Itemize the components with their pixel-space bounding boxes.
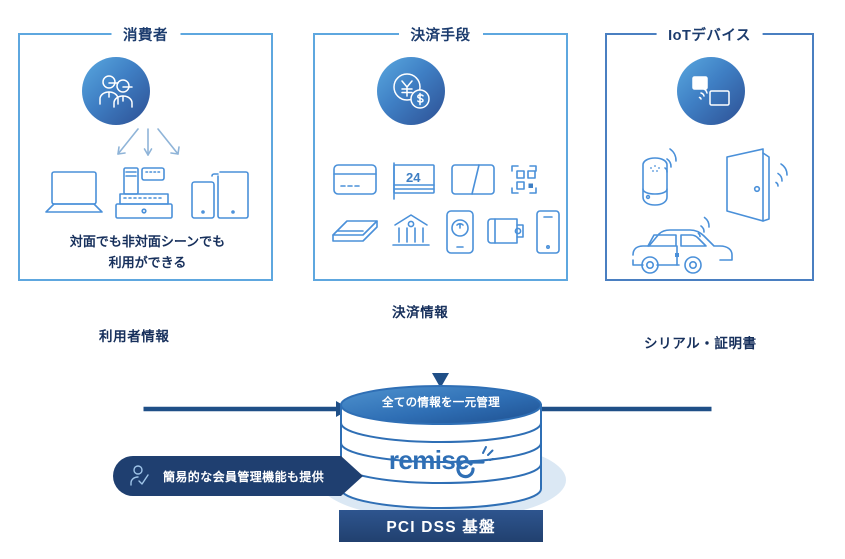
yen-dollar-coins-icon (377, 57, 445, 125)
panel-consumer-caption: 対面でも非対面シーンでも 利用ができる (20, 231, 275, 274)
smartphone-tablet-icon (192, 172, 248, 218)
flow-label-payment: 決済情報 (392, 301, 448, 321)
panel-payment: 決済手段 24 (313, 33, 568, 281)
payment-icons-row-2 (329, 209, 557, 255)
wireless-devices-icon (677, 57, 745, 125)
pci-dss-foundation: PCI DSS 基盤 (339, 510, 543, 542)
mobile-phone-icon (537, 211, 559, 253)
credit-card-icon (334, 165, 376, 194)
iot-device-icons (621, 145, 807, 275)
central-database: 全ての情報を一元管理 remise (339, 385, 543, 510)
arrow-payment-to-db (432, 281, 449, 388)
cash-bills-icon (333, 221, 377, 241)
cash-register-icon (116, 168, 172, 218)
database-top-label: 全ての情報を一元管理 (339, 394, 543, 410)
panel-iot-title: IoTデバイス (656, 24, 763, 45)
bank-transfer-icon (393, 215, 429, 245)
sparkle-e-icon (467, 445, 493, 475)
panel-payment-title: 決済手段 (399, 24, 483, 45)
payment-icons-row-1: 24 (332, 159, 554, 201)
wallet-icon (488, 219, 523, 243)
smart-speaker-icon (643, 149, 676, 205)
diagram-canvas: 消費者 (0, 0, 845, 559)
panel-iot: IoTデバイス (605, 33, 814, 281)
remise-brand: remise (339, 443, 543, 477)
connected-car-icon (633, 218, 732, 274)
panel-consumer-title: 消費者 (111, 24, 180, 45)
flow-label-consumer: 利用者情報 (99, 325, 170, 345)
pci-dss-label: PCI DSS 基盤 (386, 515, 495, 537)
member-management-badge: 簡易的な会員管理機能も提供 (113, 456, 341, 496)
mobile-touch-payment-icon (447, 211, 473, 253)
flow-label-iot: シリアル・証明書 (644, 332, 757, 352)
laptop-icon (46, 172, 102, 212)
consumer-device-icons (42, 160, 254, 222)
consumer-branch-arrows (60, 127, 235, 161)
badge-arrow-tip (341, 456, 363, 496)
qr-code-icon (512, 166, 536, 193)
smart-door-icon (727, 149, 787, 221)
arrow-consumer-to-db (144, 281, 351, 417)
two-people-icon (82, 57, 150, 125)
convenience-store-24-icon: 24 (394, 163, 434, 199)
member-management-label: 簡易的な会員管理機能も提供 (163, 468, 324, 485)
user-check-icon (129, 464, 153, 488)
panel-consumer: 消費者 (18, 33, 273, 281)
svg-text:24: 24 (406, 170, 421, 185)
e-money-card-icon (452, 165, 494, 194)
